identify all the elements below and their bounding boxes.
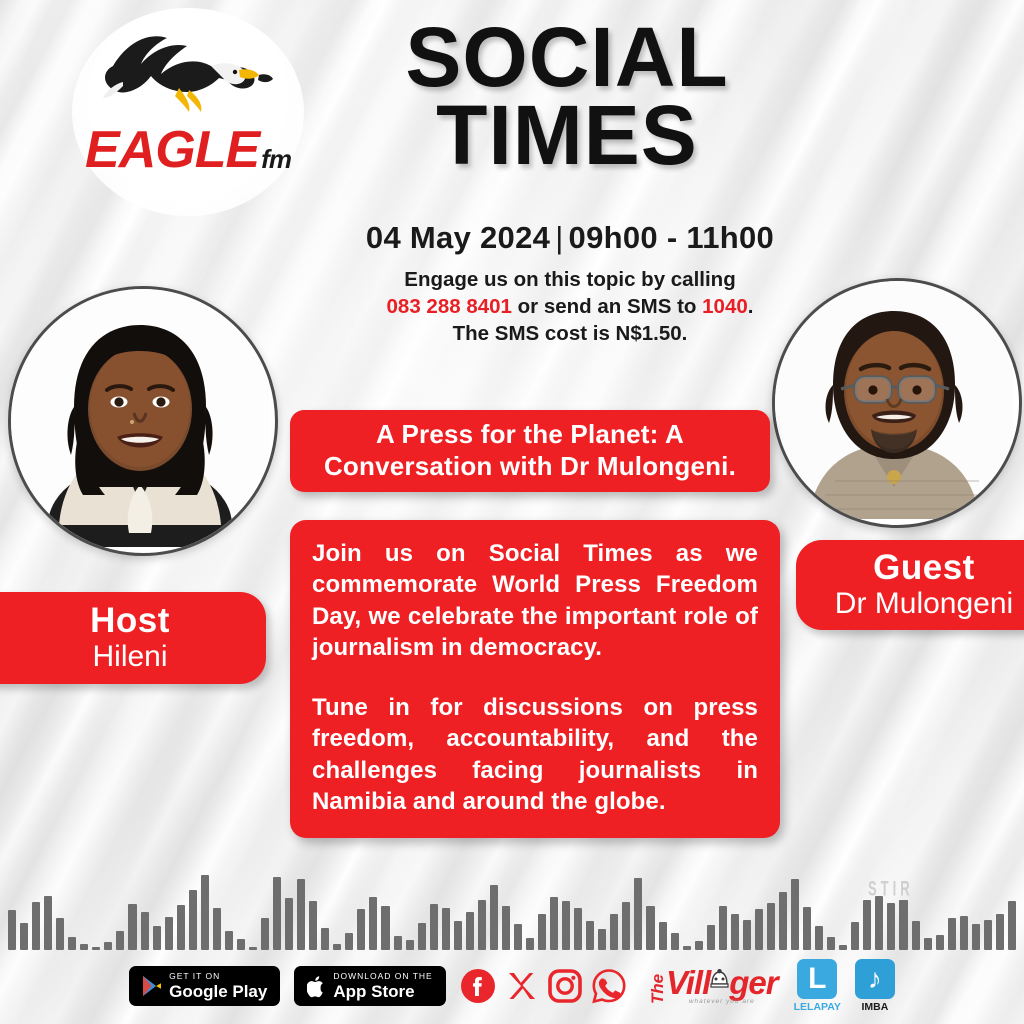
- waveform-bar: [297, 879, 305, 950]
- waveform-bar: [213, 908, 221, 950]
- description-paragraph-1: Join us on Social Times as we commemorat…: [312, 538, 758, 664]
- google-play-icon: [142, 975, 162, 997]
- waveform-bar: [899, 900, 907, 950]
- waveform-bar: [574, 908, 582, 950]
- title-line-2: TIMES: [352, 96, 782, 174]
- waveform-bar: [646, 906, 654, 950]
- sms-cost-line: The SMS cost is N$1.50.: [330, 320, 810, 347]
- show-title: SOCIAL TIMES: [352, 18, 782, 174]
- waveform-bar: [418, 923, 426, 950]
- waveform-bar: [141, 912, 149, 950]
- waveform-bar: [767, 903, 775, 950]
- waveform-bar: [369, 897, 377, 950]
- broadcast-date: 04 May 2024: [366, 220, 550, 255]
- waveform-bar: [285, 898, 293, 950]
- social-icons-group: [460, 968, 627, 1004]
- waveform-bar: [273, 877, 281, 950]
- app-store-big-text: App Store: [333, 983, 432, 1000]
- waveform-bar: [598, 929, 606, 950]
- description-paragraph-2: Tune in for discussions on press freedom…: [312, 692, 758, 818]
- waveform-bar: [177, 905, 185, 950]
- waveform-bar: [550, 897, 558, 950]
- waveform-bar: [610, 914, 618, 950]
- guest-portrait: [772, 278, 1022, 528]
- topic-banner: A Press for the Planet: A Conversation w…: [290, 410, 770, 492]
- host-portrait: [8, 286, 278, 556]
- waveform-bar: [779, 892, 787, 950]
- imba-glyph: ♪: [855, 959, 895, 999]
- waveform-bar: [261, 918, 269, 950]
- waveform-bar: [851, 922, 859, 950]
- waveform-bar: [454, 921, 462, 950]
- imba-logo[interactable]: ♪ IMBA: [855, 959, 895, 1013]
- waveform-bar: [815, 926, 823, 950]
- waveform-bar: [586, 921, 594, 950]
- guest-portrait-image: [775, 281, 1013, 519]
- waveform-bar: [44, 896, 52, 950]
- apple-icon: [307, 975, 326, 998]
- title-line-1: SOCIAL: [352, 18, 782, 96]
- waveform-bar: [863, 900, 871, 950]
- guest-name-banner: Guest Dr Mulongeni: [796, 540, 1024, 630]
- waveform-bar: [309, 901, 317, 950]
- waveform-bar: [538, 914, 546, 950]
- waveform-bar: [20, 923, 28, 950]
- waveform-bar: [996, 914, 1004, 950]
- waveform-bar: [165, 917, 173, 950]
- waveform-bar: [743, 920, 751, 950]
- villager-the-text: The: [648, 974, 668, 1004]
- waveform-bar: [791, 879, 799, 950]
- waveform-bar: [622, 902, 630, 950]
- google-play-big-text: Google Play: [169, 983, 267, 1000]
- waveform-bar: [731, 914, 739, 950]
- guest-role-label: Guest: [873, 550, 975, 587]
- waveform-bar: [755, 909, 763, 950]
- phone-number: 083 288 8401: [387, 295, 512, 318]
- waveform-watermark: STIR: [868, 877, 914, 901]
- waveform-bar: [659, 922, 667, 950]
- waveform-bar: [875, 896, 883, 950]
- engage-numbers-line: 083 288 8401 or send an SMS to 1040.: [330, 293, 810, 320]
- waveform-bar: [514, 924, 522, 950]
- waveform-bar: [634, 878, 642, 950]
- waveform-bar: [972, 924, 980, 950]
- google-play-small-text: GET IT ON: [169, 972, 267, 981]
- villager-main-pre: Vill: [666, 967, 710, 998]
- flying-eagle-icon: [93, 26, 283, 130]
- engage-mid-text: or send an SMS to: [512, 295, 702, 318]
- topic-text: A Press for the Planet: A Conversation w…: [308, 419, 752, 482]
- waveform-bar: [357, 909, 365, 950]
- lelapay-logo[interactable]: L LELAPAY: [794, 959, 841, 1013]
- lelapay-label: LELAPAY: [794, 1001, 841, 1013]
- waveform-bar: [887, 903, 895, 950]
- waveform-bar: [478, 900, 486, 950]
- the-villager-logo[interactable]: The Vill ger whatever you are: [643, 967, 778, 1005]
- broadcast-time: 09h00 - 11h00: [569, 220, 775, 255]
- engage-end-text: .: [748, 295, 754, 318]
- waveform-bar: [803, 907, 811, 950]
- audio-waveform: [0, 854, 1024, 950]
- logo-eagle-text: EAGLE: [85, 124, 259, 176]
- waveform-bar: [490, 885, 498, 950]
- waveform-bar: [56, 918, 64, 950]
- datetime-separator: |: [550, 220, 568, 255]
- waveform-bar: [430, 904, 438, 950]
- waveform-bar: [189, 890, 197, 950]
- description-card: Join us on Social Times as we commemorat…: [290, 520, 780, 838]
- waveform-bar: [381, 906, 389, 950]
- app-store-small-text: Download on the: [333, 972, 432, 981]
- waveform-bar: [984, 920, 992, 950]
- host-name-banner: Host Hileni: [0, 592, 266, 684]
- waveform-bar: [562, 901, 570, 950]
- instagram-icon[interactable]: [548, 969, 582, 1003]
- host-name-label: Hileni: [92, 640, 167, 673]
- waveform-bar: [442, 908, 450, 950]
- waveform-bar: [707, 925, 715, 950]
- waveform-bar: [948, 918, 956, 950]
- waveform-bar: [466, 912, 474, 950]
- waveform-bar: [32, 902, 40, 950]
- guest-name-label: Dr Mulongeni: [835, 587, 1013, 620]
- x-twitter-icon[interactable]: [505, 969, 539, 1003]
- whatsapp-icon[interactable]: [591, 968, 627, 1004]
- waveform-bar: [321, 928, 329, 950]
- lelapay-glyph: L: [797, 959, 837, 999]
- social-times-poster: EAGLEfm SOCIAL TIMES 04 May 2024|09h00 -…: [0, 0, 1024, 1024]
- host-portrait-image: [11, 289, 269, 547]
- engage-call-line: Engage us on this topic by calling: [330, 266, 810, 293]
- villager-main-post: ger: [729, 967, 777, 998]
- engagement-info: Engage us on this topic by calling 083 2…: [330, 266, 810, 347]
- waveform-bar: [201, 875, 209, 950]
- waveform-bar: [719, 906, 727, 950]
- waveform-bar: [960, 916, 968, 950]
- eagle-fm-logo: EAGLEfm: [72, 8, 304, 216]
- facebook-icon[interactable]: [460, 968, 496, 1004]
- waveform-bar: [502, 906, 510, 950]
- logo-fm-text: fm: [261, 146, 291, 172]
- villager-bell-icon: [709, 969, 730, 994]
- sms-number: 1040: [702, 295, 748, 318]
- host-role-label: Host: [90, 603, 170, 640]
- waveform-bar: [912, 921, 920, 950]
- app-store-badge[interactable]: Download on the App Store: [294, 966, 445, 1006]
- villager-wordmark: Vill ger: [666, 967, 778, 998]
- waveform-bar: [153, 926, 161, 950]
- google-play-badge[interactable]: GET IT ON Google Play: [129, 966, 280, 1006]
- waveform-bar: [128, 904, 136, 950]
- waveform-bar: [1008, 901, 1016, 950]
- footer-bar: GET IT ON Google Play Download on the Ap…: [0, 948, 1024, 1024]
- villager-tagline: whatever you are: [689, 998, 755, 1005]
- imba-label: IMBA: [861, 1001, 888, 1013]
- waveform-bar: [8, 910, 16, 950]
- eagle-fm-wordmark: EAGLEfm: [85, 124, 291, 176]
- broadcast-datetime: 04 May 2024|09h00 - 11h00: [330, 220, 810, 256]
